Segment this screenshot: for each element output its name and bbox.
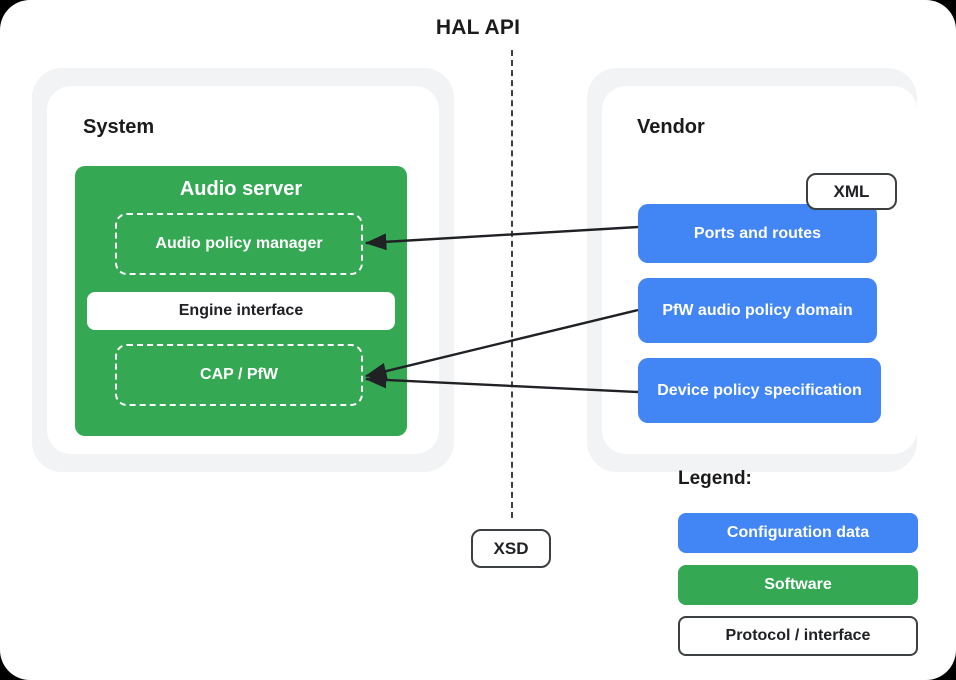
legend-item-software: Software bbox=[678, 565, 918, 605]
vendor-panel-title: Vendor bbox=[637, 116, 705, 139]
hal-api-title: HAL API bbox=[0, 16, 956, 40]
xml-badge: XML bbox=[806, 173, 897, 210]
legend-title: Legend: bbox=[678, 468, 752, 490]
ports-and-routes-block: Ports and routes bbox=[638, 204, 877, 263]
legend-item-protocol-interface: Protocol / interface bbox=[678, 616, 918, 656]
audio-server-block: Audio server Audio policy manager Engine… bbox=[75, 166, 407, 436]
system-panel-title: System bbox=[83, 116, 154, 139]
diagram-card: HAL API System Audio server Audio policy… bbox=[0, 0, 956, 680]
hal-api-divider-line bbox=[511, 50, 513, 518]
cap-pfw-block: CAP / PfW bbox=[115, 344, 363, 406]
engine-interface-block: Engine interface bbox=[87, 292, 395, 330]
pfw-audio-policy-domain-block: PfW audio policy domain bbox=[638, 278, 877, 343]
legend-item-configuration-data: Configuration data bbox=[678, 513, 918, 553]
device-policy-specification-block: Device policy specification bbox=[638, 358, 881, 423]
xsd-badge: XSD bbox=[471, 529, 551, 568]
audio-policy-manager-block: Audio policy manager bbox=[115, 213, 363, 275]
audio-server-title: Audio server bbox=[75, 178, 407, 201]
